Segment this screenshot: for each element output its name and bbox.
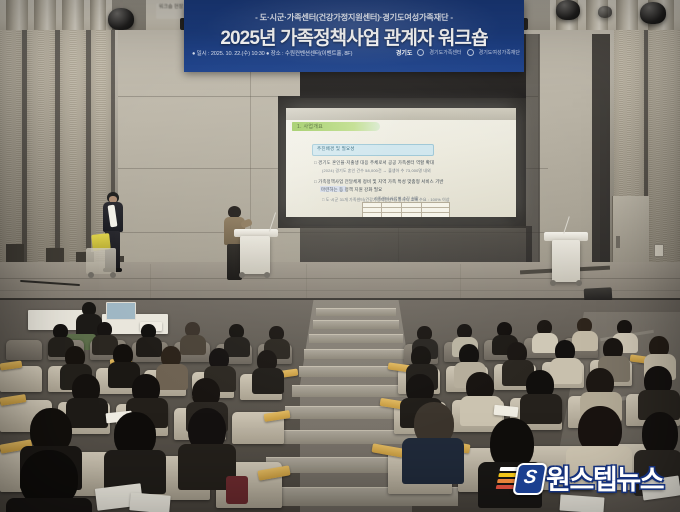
aisle-step (313, 320, 399, 329)
ceiling-spotlight (640, 2, 666, 24)
handbag (226, 476, 248, 504)
lectern-caster (550, 280, 556, 286)
logo-gyeonggi-women-family-foundation: 경기도여성가족재단 (479, 49, 520, 56)
operator-laptop[interactable] (106, 302, 136, 320)
logo-gyeonggi-family-center: 경기도가족센터 (429, 49, 461, 56)
event-banner: - 도·시군·가족센터(건강가정지원센터)·경기도여성가족재단 - 2025년 … (184, 0, 524, 72)
slide-subtitle-box: 추진배경 및 필요성 (312, 144, 434, 156)
slide-subtitle-text: 추진배경 및 필요성 (313, 145, 433, 152)
ceiling-spotlight (108, 8, 134, 30)
attendee (6, 450, 92, 512)
projection-screen: 1. 사업개요 추진배경 및 필요성 □ 경기도 혼인율·저출생 대응 주체로서… (286, 108, 516, 217)
attendee (520, 370, 562, 416)
lectern-caster (576, 280, 582, 286)
attendee (104, 412, 166, 484)
attendee (402, 402, 464, 478)
slide-body-line-4: 마련하는 등 정책 지원 강화 필요 (321, 187, 382, 193)
conference-photo: 워크숍 현장 1. 사업개요 (0, 0, 680, 512)
logo-mark-icon (417, 49, 424, 56)
slide-data-table (362, 202, 450, 217)
slide-body-line-2: (2024) 경기도 혼인 건수 58,000건 → 출생아 수 73,000명… (322, 168, 431, 174)
seat (6, 340, 42, 360)
slide-section-tab: 1. 사업개요 (292, 122, 380, 131)
handout-paper (559, 494, 604, 512)
seat (0, 366, 42, 392)
cart-caster (88, 272, 94, 278)
door-handle (616, 236, 620, 248)
slide-body-line-1: □ 경기도 혼인율·저출생 대응 주체로서 공공 가족센터 역할 확대 (314, 160, 434, 166)
logo-mark-icon (467, 49, 474, 56)
handout-paper (129, 492, 170, 512)
banner-logo-row: 경기도 경기도가족센터 경기도여성가족재단 (396, 48, 520, 57)
logo-gyeonggi-do: 경기도 (396, 48, 413, 57)
lectern-caster (264, 272, 270, 278)
aisle-step (309, 334, 403, 343)
wall-switch-plate (654, 244, 664, 257)
banner-eyebrow: - 도·시군·가족센터(건강가정지원센터)·경기도여성가족재단 - (184, 11, 524, 23)
venue-logo-plate: 워크숍 현장 (156, 3, 186, 19)
lectern-right[interactable] (552, 240, 580, 282)
stage-cart (86, 248, 116, 274)
aisle-step (304, 349, 408, 359)
wall-dark-band (300, 226, 532, 266)
slide-header-bar (286, 108, 516, 120)
wall-dark-pillar (592, 34, 610, 284)
logo-letter: S (515, 465, 546, 493)
venue-logo-text: 워크숍 현장 (159, 4, 183, 10)
cart-caster (110, 272, 116, 278)
watermark-text: 원스텝뉴스 (546, 458, 663, 497)
slide-table-caption: 가족센터 사업별 추진 현황 (374, 196, 419, 202)
attendee (178, 408, 236, 480)
wall-dark-band (526, 34, 540, 270)
attendee (252, 350, 284, 386)
slide-section-tab-label: 1. 사업개요 (292, 122, 380, 130)
banner-title: 2025년 가족정책사업 관계자 워크숍 (184, 23, 524, 50)
onestepnews-logo-icon: S (498, 460, 542, 496)
ceiling-spotlight (598, 6, 612, 18)
ceiling-spotlight (556, 0, 580, 20)
lectern-caster (239, 272, 245, 278)
attendee (638, 366, 680, 412)
slide-body-line-3: □ 가족정책사업 전달체계 정비 및 지역 가족 특성 맞춤형 서비스 기반 (314, 179, 444, 185)
news-watermark: S 원스텝뉴스 (498, 458, 663, 497)
aisle-step (316, 308, 396, 316)
lectern-left[interactable] (240, 236, 270, 274)
